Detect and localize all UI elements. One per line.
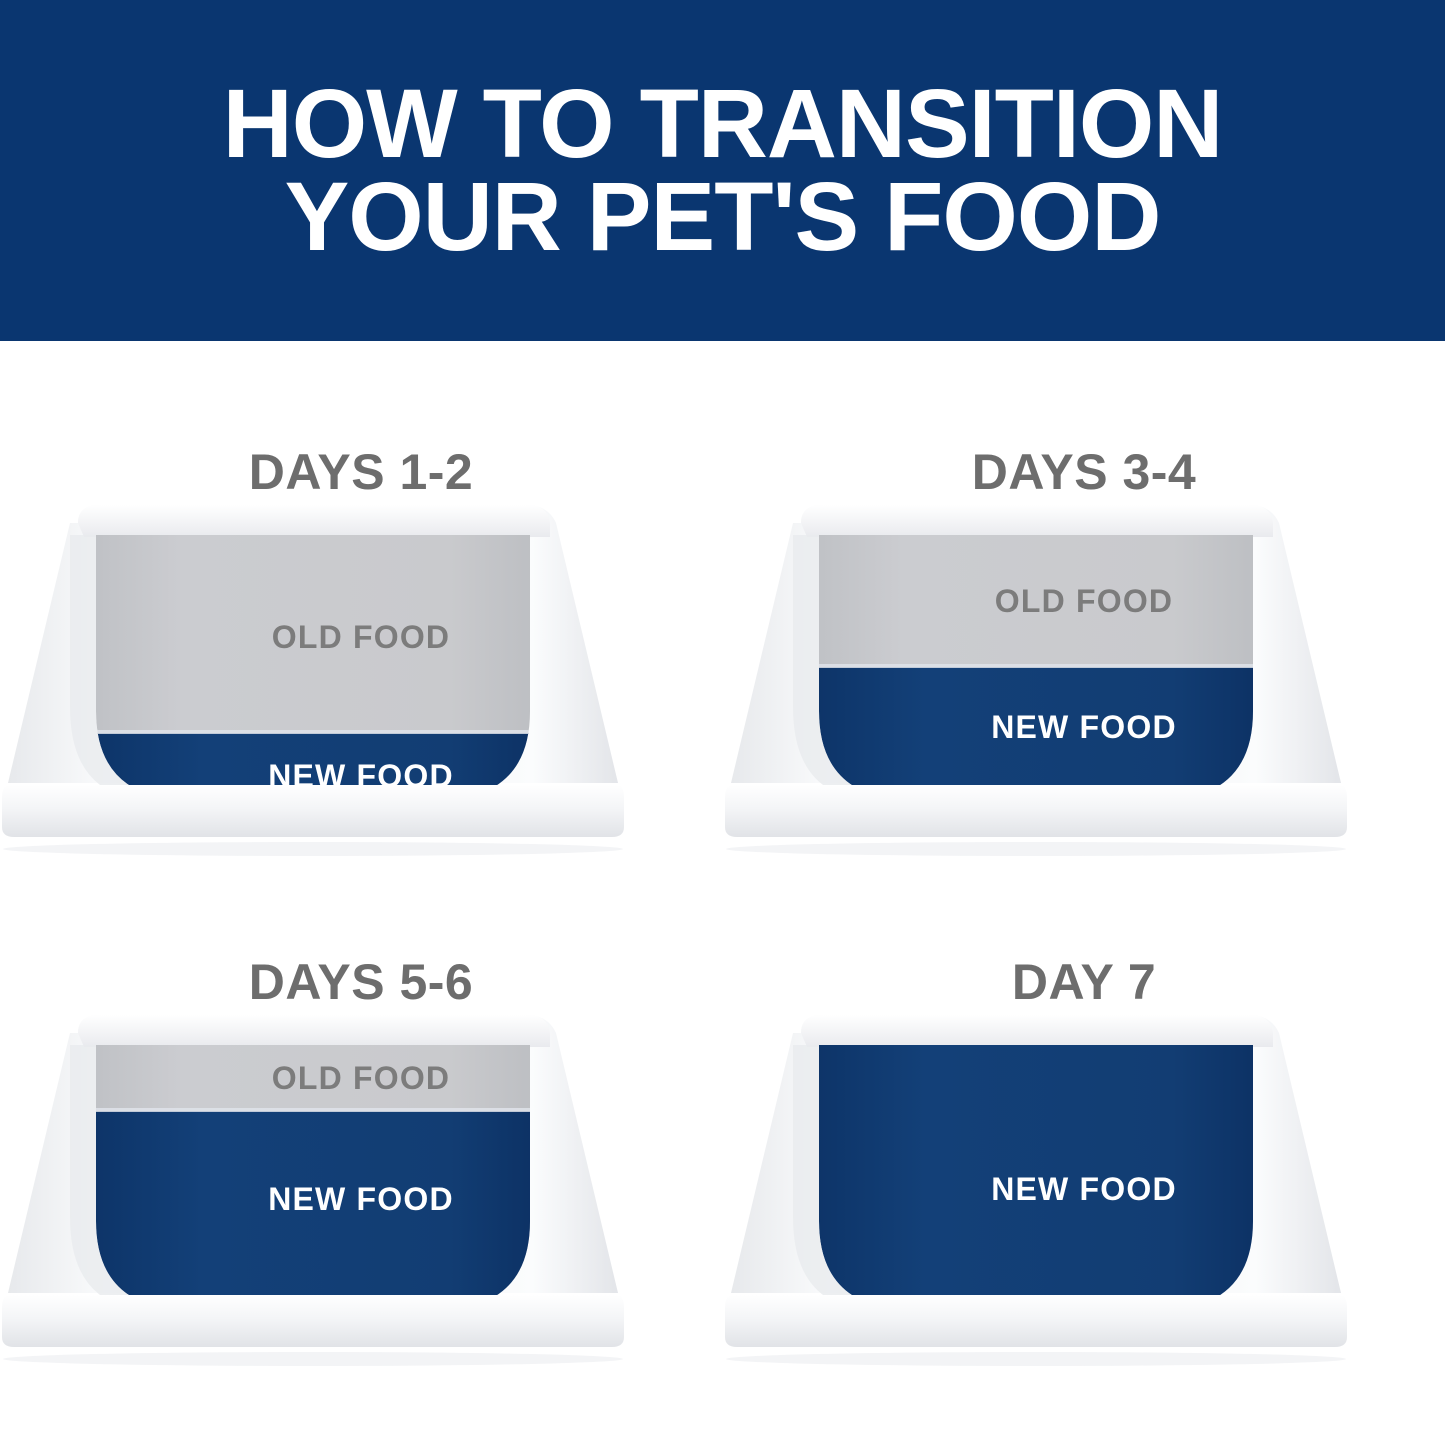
bowl-shadow (726, 1352, 1346, 1366)
bowl-svg (723, 1011, 1445, 1371)
bowl-cavity (813, 1039, 1263, 1329)
bowl-svg (723, 501, 1445, 861)
food-divider (813, 664, 1263, 668)
infographic-page: HOW TO TRANSITION YOUR PET'S FOOD DAYS 1… (0, 0, 1445, 1445)
step-day-label: DAYS 5-6 (0, 953, 722, 1011)
step-day-label: DAYS 1-2 (0, 443, 722, 501)
bowl-svg (0, 1011, 722, 1371)
bowl-shadow (726, 842, 1346, 856)
bowl-base (725, 785, 1347, 837)
bowl-cavity (90, 529, 540, 813)
bowl-rim (78, 1015, 550, 1047)
step-card-day-7: DAY 7 (723, 893, 1445, 1445)
step-day-label: DAY 7 (723, 953, 1445, 1011)
bowl-cavity (813, 529, 1263, 813)
bowl-shadow (3, 1352, 623, 1366)
bowl-base (725, 1295, 1347, 1347)
food-divider (90, 730, 540, 734)
new-food-fill (90, 1111, 540, 1323)
bowl-shadow (3, 842, 623, 856)
bowl-graphic (0, 501, 722, 861)
bowl-rim (801, 505, 1273, 537)
bowl-graphic (723, 1011, 1445, 1371)
step-card-days-5-6: DAYS 5-6 (0, 893, 722, 1445)
step-card-days-1-2: DAYS 1-2 (0, 383, 722, 935)
bowl-base (2, 1295, 624, 1347)
step-day-label: DAYS 3-4 (723, 443, 1445, 501)
new-food-fill (813, 1039, 1263, 1329)
bowl-rim (78, 505, 550, 537)
steps-grid: DAYS 1-2 (0, 341, 1445, 1445)
step-card-days-3-4: DAYS 3-4 (723, 383, 1445, 935)
header-banner: HOW TO TRANSITION YOUR PET'S FOOD (0, 0, 1445, 341)
bowl-graphic (0, 1011, 722, 1371)
bowl-base (2, 785, 624, 837)
bowl-graphic (723, 501, 1445, 861)
bowl-cavity (90, 1039, 540, 1323)
food-divider (90, 1108, 540, 1112)
page-title: HOW TO TRANSITION YOUR PET'S FOOD (183, 78, 1263, 262)
bowl-svg (0, 501, 722, 861)
bowl-rim (801, 1015, 1273, 1047)
